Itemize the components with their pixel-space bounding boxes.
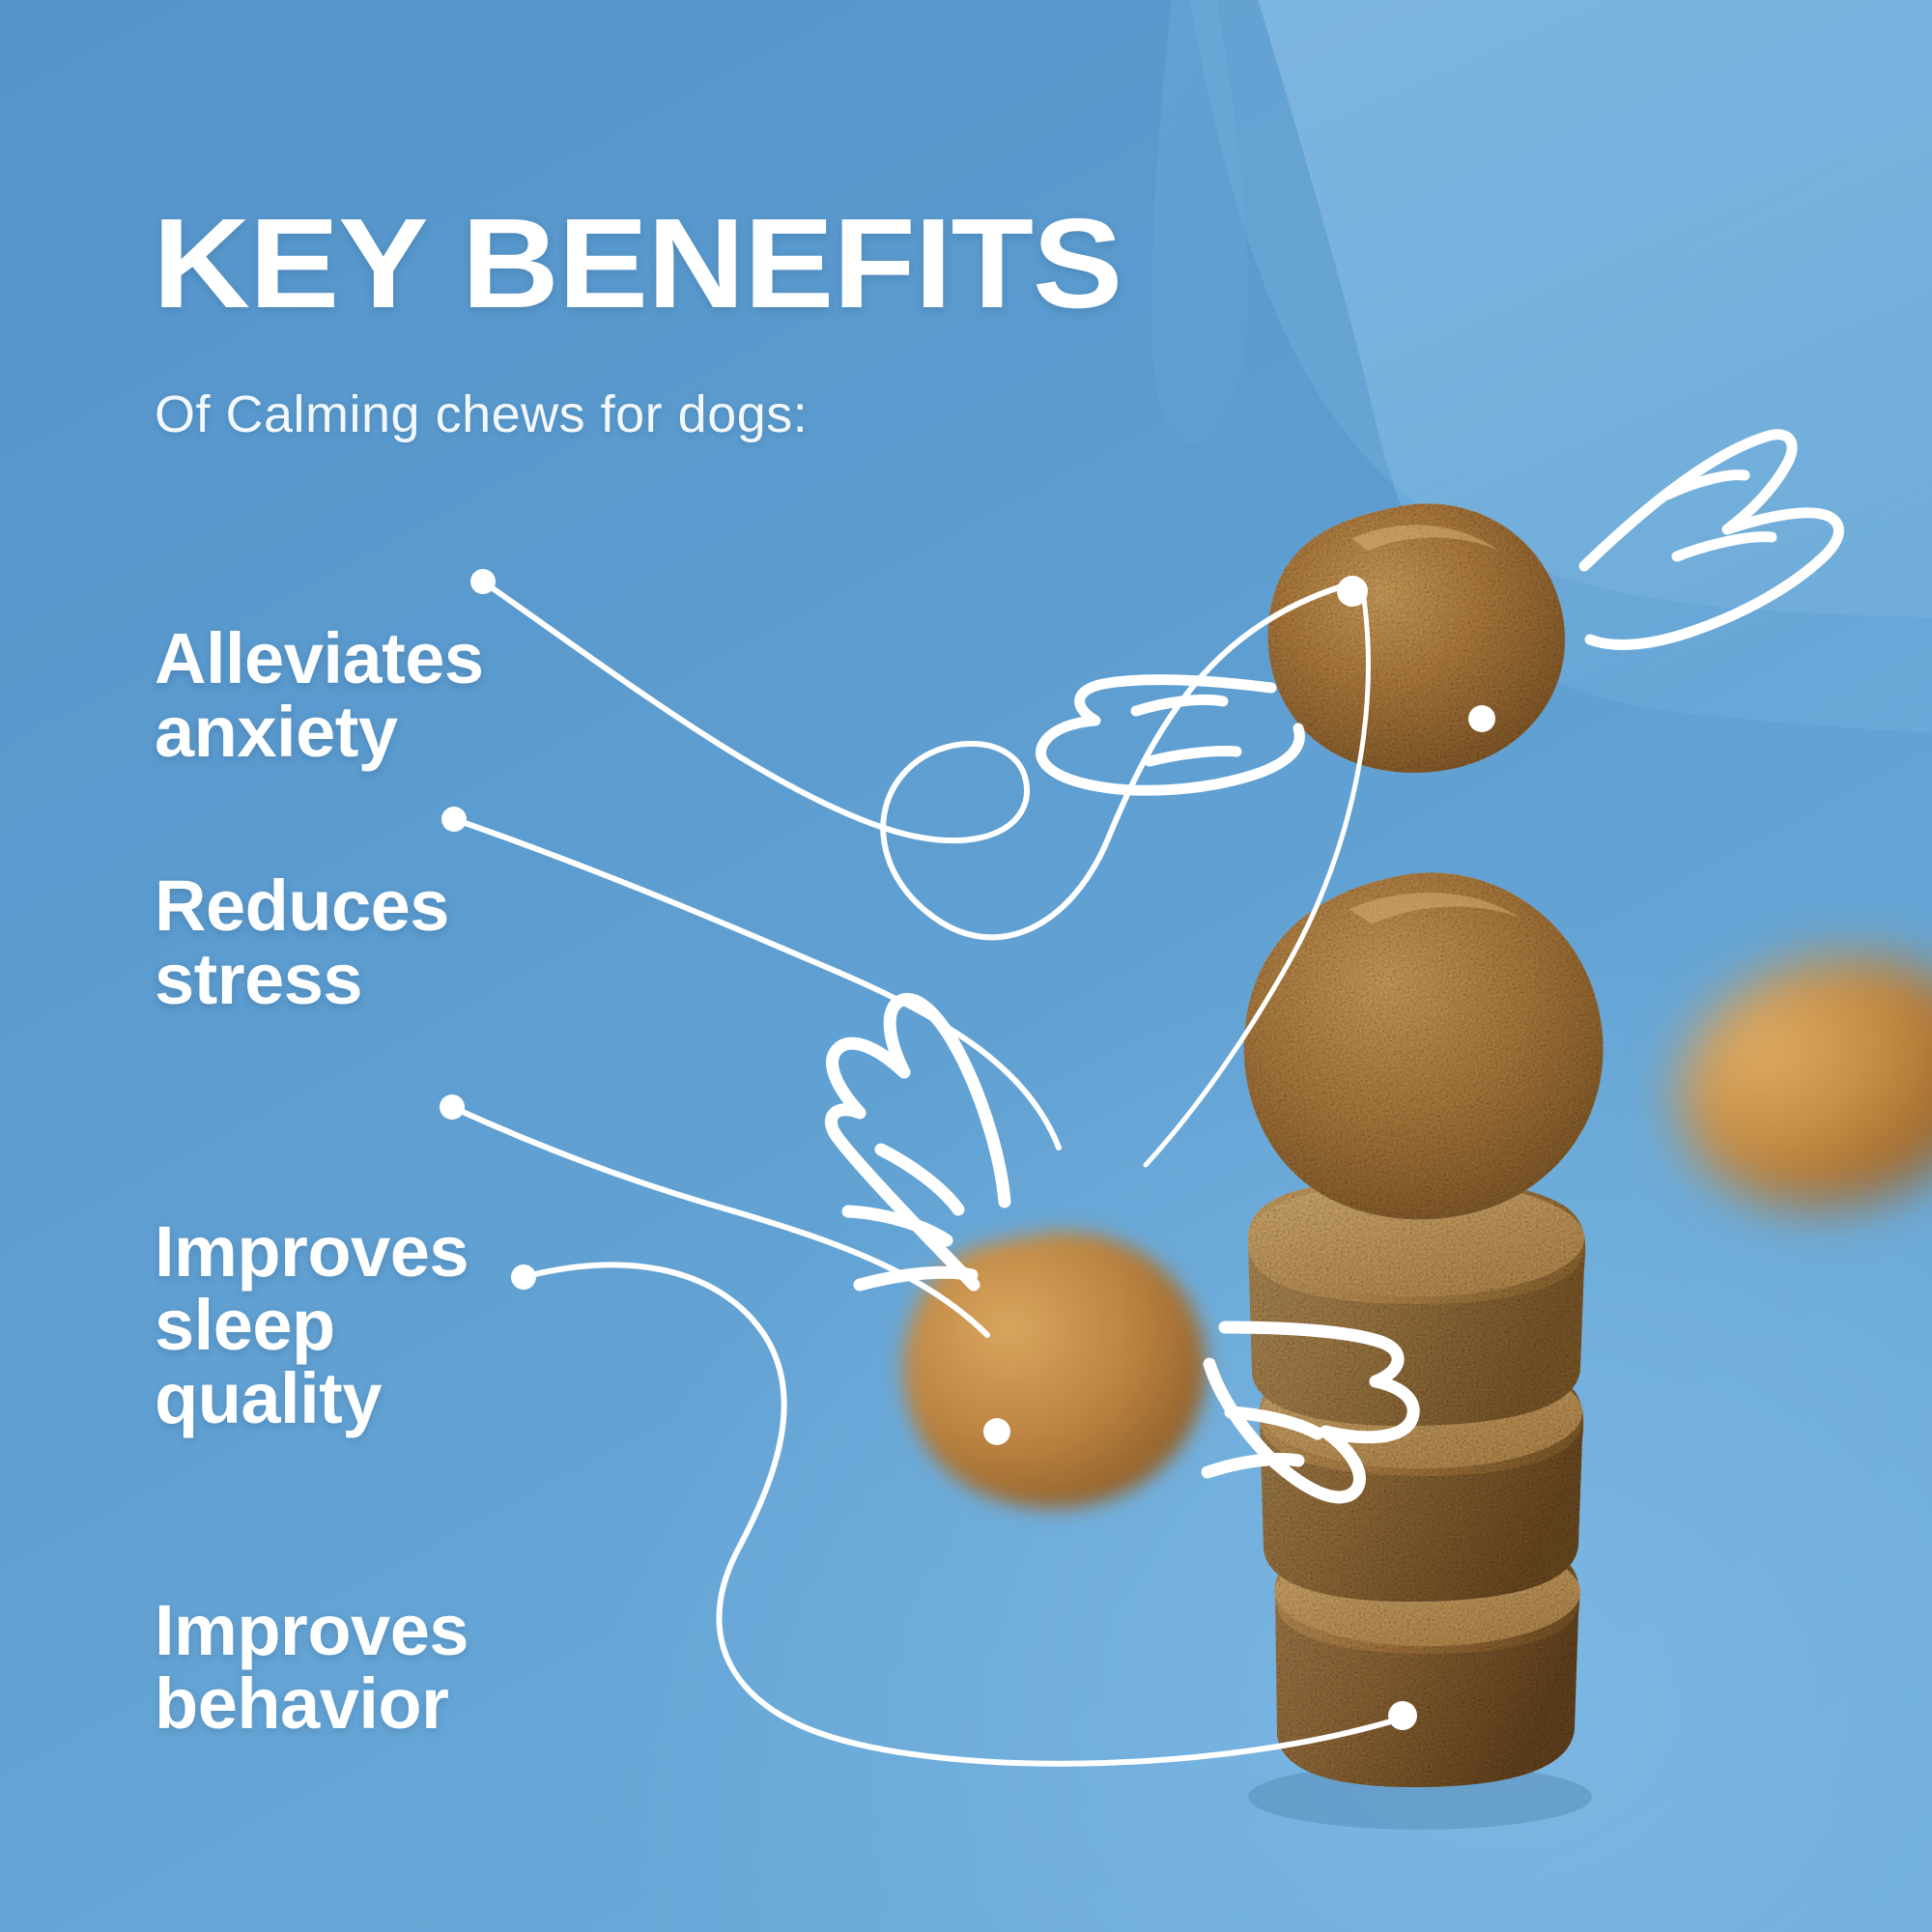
connector-dot-icon[interactable]: [440, 1094, 465, 1120]
connector-dot-icon[interactable]: [1468, 705, 1495, 732]
connector-dot-icon[interactable]: [441, 807, 467, 832]
angel-wing-icon: [1040, 680, 1299, 791]
angel-wing-icon: [1207, 1327, 1413, 1497]
key-benefits-infographic: KEY BENEFITS Of Calming chews for dogs: …: [0, 0, 1932, 1932]
connector-dot-icon[interactable]: [470, 569, 496, 594]
connector-dot-icon[interactable]: [511, 1264, 536, 1290]
connector-dot-icon[interactable]: [1388, 1701, 1417, 1730]
connector-overlay: [0, 0, 1932, 1932]
connector-dot-icon[interactable]: [1337, 576, 1368, 607]
angel-wing-icon: [831, 999, 1005, 1285]
connector-dot-icon[interactable]: [983, 1418, 1010, 1445]
angel-wing-icon: [1584, 435, 1838, 645]
